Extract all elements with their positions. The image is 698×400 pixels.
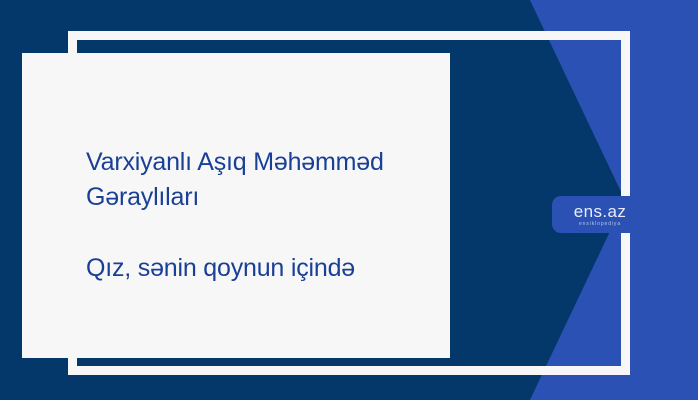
panel-text-block: Varxiyanlı Aşıq Məhəmməd Gəraylıları Qız… (86, 145, 476, 286)
page-title-line-2: Gəraylıları (86, 180, 476, 215)
page-subtitle: Qız, sənin qoynun içində (86, 251, 476, 286)
logo-wordmark: ens.az (574, 203, 627, 220)
logo-tagline: ensiklopediya (579, 222, 621, 227)
ens-az-logo-badge[interactable]: ens.az ensiklopediya (552, 196, 648, 233)
slide-canvas: Varxiyanlı Aşıq Məhəmməd Gəraylıları Qız… (0, 0, 698, 400)
page-title-line-1: Varxiyanlı Aşıq Məhəmməd (86, 145, 476, 180)
content-panel: Varxiyanlı Aşıq Məhəmməd Gəraylıları Qız… (22, 53, 450, 358)
